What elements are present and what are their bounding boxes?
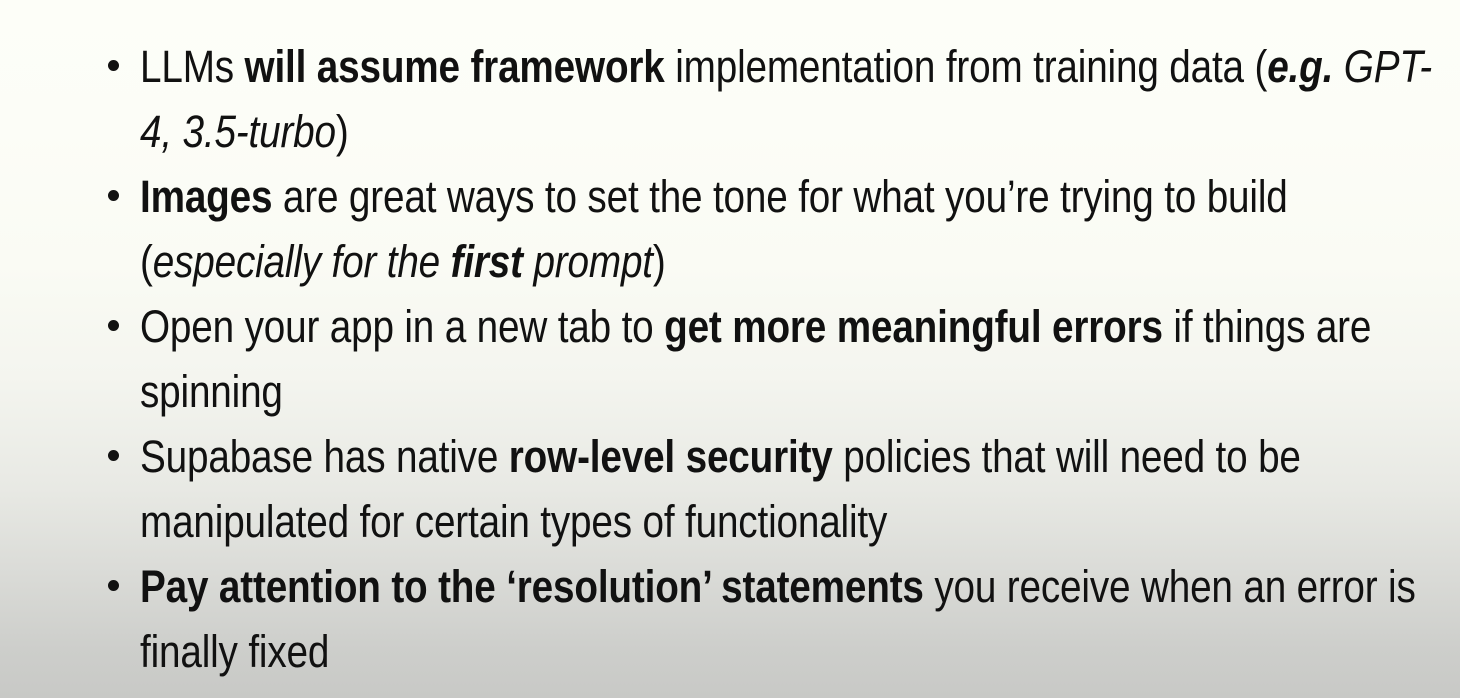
text-run-bold: Pay attention to the ‘resolution’ statem… [140,561,924,612]
slide-canvas: LLMs will assume framework implementatio… [0,0,1460,698]
bullet-item: Images are great ways to set the tone fo… [40,164,1460,294]
bullet-list: LLMs will assume framework implementatio… [0,0,1460,684]
bullet-item: Open your app in a new tab to get more m… [40,294,1460,424]
text-run-regular: ) [653,236,666,287]
text-run-bold: Images [140,171,272,222]
bullet-text: LLMs will assume framework implementatio… [140,34,1448,164]
text-run-bold: get more meaningful errors [664,301,1163,352]
text-run-regular: ) [336,106,349,157]
bullet-text: Open your app in a new tab to get more m… [140,294,1448,424]
bullet-dot-icon [108,320,119,331]
text-run-italic: especially for the [153,236,451,287]
bullet-text: Images are great ways to set the tone fo… [140,164,1448,294]
text-run-regular: implementation from training data ( [665,41,1268,92]
text-run-bold-italic: e.g. [1267,41,1333,92]
bullet-item: Pay attention to the ‘resolution’ statem… [40,554,1460,684]
bullet-dot-icon [108,580,119,591]
bullet-item: LLMs will assume framework implementatio… [40,34,1460,164]
bullet-dot-icon [108,450,119,461]
text-run-regular: LLMs [140,41,245,92]
text-run-italic: prompt [523,236,653,287]
text-run-bold: will assume framework [245,41,665,92]
text-run-regular: Supabase has native [140,431,509,482]
bullet-text: Supabase has native row-level security p… [140,424,1448,554]
bullet-dot-icon [108,190,119,201]
text-run-regular: Open your app in a new tab to [140,301,664,352]
text-run-bold-italic: first [451,236,523,287]
bullet-dot-icon [108,60,119,71]
bullet-text: Pay attention to the ‘resolution’ statem… [140,554,1448,684]
bullet-item: Supabase has native row-level security p… [40,424,1460,554]
text-run-bold: row-level security [509,431,833,482]
